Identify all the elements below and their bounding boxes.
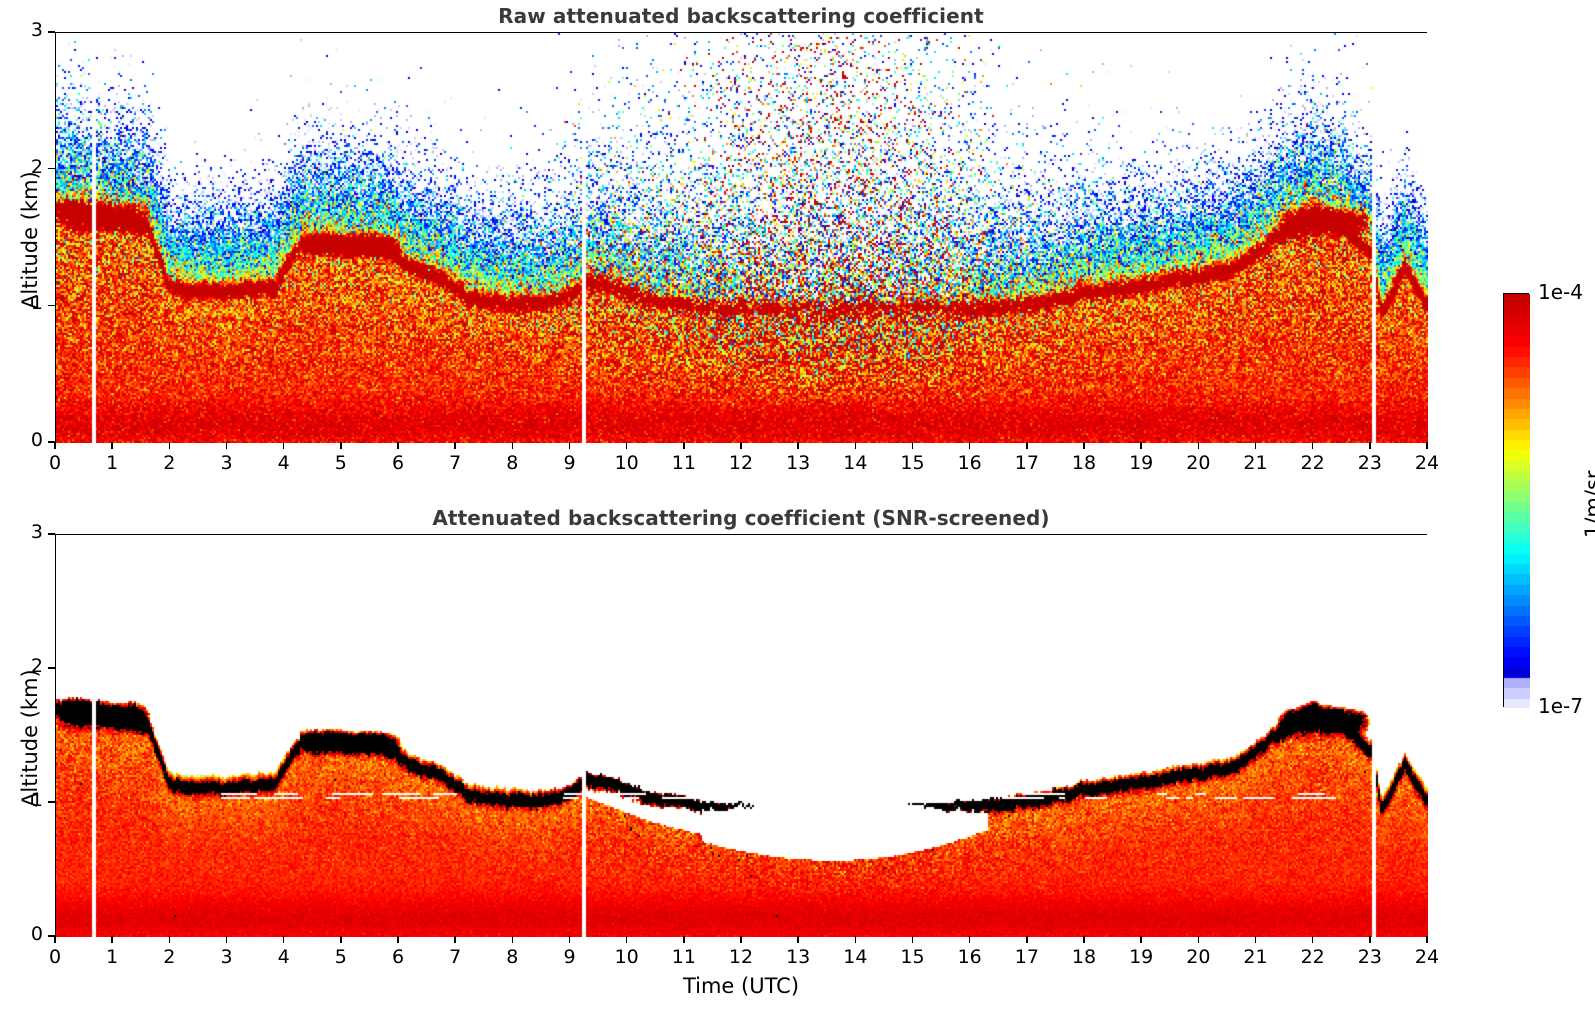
x-tick-mark [740,442,742,449]
x-tick-label: 8 [490,946,534,968]
colorbar-label: 1/m/sr [1581,470,1595,538]
x-tick-mark [1026,936,1028,943]
x-tick-mark [111,936,113,943]
x-tick-mark [54,442,56,449]
x-tick-mark [855,936,857,943]
x-tick-mark [569,936,571,943]
x-tick-label: 15 [891,452,935,474]
x-tick-mark [1426,936,1428,943]
x-tick-mark [626,936,628,943]
x-tick-label: 18 [1062,946,1106,968]
x-tick-label: 16 [948,946,992,968]
lidar-quicklook-figure: Raw attenuated backscattering coefficien… [0,0,1595,1020]
x-tick-mark [626,442,628,449]
y-tick-label: 1 [13,292,43,314]
x-tick-mark [283,442,285,449]
x-tick-mark [797,936,799,943]
y-tick-mark [48,935,55,937]
x-tick-label: 21 [1234,452,1278,474]
x-tick-mark [397,936,399,943]
x-tick-label: 2 [147,452,191,474]
x-tick-mark [1312,442,1314,449]
x-tick-mark [169,936,171,943]
x-tick-label: 0 [33,946,77,968]
x-tick-label: 19 [1119,946,1163,968]
y-tick-mark [48,801,55,803]
x-tick-label: 3 [205,452,249,474]
x-tick-mark [226,936,228,943]
x-tick-label: 4 [262,452,306,474]
y-tick-label: 3 [13,19,43,41]
x-tick-mark [969,442,971,449]
x-tick-mark [454,936,456,943]
x-tick-mark [855,442,857,449]
y-tick-label: 3 [13,521,43,543]
x-tick-mark [797,442,799,449]
x-tick-label: 11 [662,452,706,474]
y-tick-mark [48,168,55,170]
x-tick-mark [283,936,285,943]
x-tick-mark [397,442,399,449]
x-tick-label: 6 [376,946,420,968]
y-tick-label: 1 [13,789,43,811]
x-tick-mark [111,442,113,449]
x-tick-mark [226,442,228,449]
x-tick-label: 0 [33,452,77,474]
x-tick-mark [1198,936,1200,943]
x-tick-label: 23 [1348,946,1392,968]
x-tick-label: 9 [548,452,592,474]
x-tick-label: 22 [1291,946,1335,968]
y-tick-label: 2 [13,655,43,677]
x-tick-label: 13 [776,452,820,474]
x-tick-label: 22 [1291,452,1335,474]
x-tick-mark [1426,442,1428,449]
x-tick-label: 12 [719,452,763,474]
x-tick-mark [1083,442,1085,449]
y-tick-mark [48,305,55,307]
y-tick-label: 2 [13,156,43,178]
x-tick-label: 20 [1176,946,1220,968]
colorbar [1503,293,1529,707]
x-tick-label: 1 [90,452,134,474]
x-tick-label: 16 [948,452,992,474]
x-axis-label-time: Time (UTC) [55,974,1427,998]
x-tick-label: 24 [1405,946,1449,968]
x-tick-mark [1369,936,1371,943]
plot-area-raw [55,32,1427,442]
colorbar-tick-max: 1e-4 [1538,280,1583,304]
x-tick-label: 10 [605,946,649,968]
y-tick-label: 0 [13,429,43,451]
x-tick-mark [54,936,56,943]
x-tick-label: 21 [1234,946,1278,968]
plot-area-screened [55,534,1427,936]
x-tick-mark [1198,442,1200,449]
x-tick-label: 10 [605,452,649,474]
x-tick-label: 19 [1119,452,1163,474]
x-tick-label: 23 [1348,452,1392,474]
x-tick-label: 24 [1405,452,1449,474]
x-tick-mark [1369,442,1371,449]
x-tick-mark [454,442,456,449]
x-tick-label: 12 [719,946,763,968]
y-axis-label-raw: Altitude (km) [18,171,42,309]
x-tick-label: 3 [205,946,249,968]
x-tick-label: 20 [1176,452,1220,474]
x-tick-label: 18 [1062,452,1106,474]
x-tick-label: 6 [376,452,420,474]
x-tick-label: 17 [1005,452,1049,474]
y-tick-mark [48,667,55,669]
x-tick-label: 8 [490,452,534,474]
colorbar-tick-min: 1e-7 [1538,694,1583,718]
x-tick-mark [683,936,685,943]
x-tick-mark [740,936,742,943]
x-tick-mark [1312,936,1314,943]
x-tick-label: 14 [833,452,877,474]
x-tick-label: 5 [319,452,363,474]
x-tick-label: 7 [433,452,477,474]
y-axis-label-screened: Altitude (km) [18,669,42,807]
x-tick-label: 7 [433,946,477,968]
panel-title-screened: Attenuated backscattering coefficient (S… [55,506,1427,530]
x-tick-mark [1026,442,1028,449]
y-tick-label: 0 [13,923,43,945]
x-tick-label: 5 [319,946,363,968]
y-tick-mark [48,31,55,33]
x-tick-label: 9 [548,946,592,968]
x-tick-mark [912,442,914,449]
x-tick-mark [1083,936,1085,943]
x-tick-mark [512,936,514,943]
y-tick-mark [48,533,55,535]
x-tick-label: 2 [147,946,191,968]
x-tick-mark [512,442,514,449]
x-tick-label: 1 [90,946,134,968]
x-tick-mark [169,442,171,449]
x-tick-mark [1140,936,1142,943]
x-tick-mark [969,936,971,943]
x-tick-mark [340,442,342,449]
x-tick-label: 13 [776,946,820,968]
x-tick-label: 4 [262,946,306,968]
x-tick-mark [1255,442,1257,449]
panel-title-raw: Raw attenuated backscattering coefficien… [55,4,1427,28]
x-tick-label: 15 [891,946,935,968]
x-tick-label: 14 [833,946,877,968]
x-tick-mark [340,936,342,943]
x-tick-mark [569,442,571,449]
x-tick-mark [683,442,685,449]
x-tick-label: 11 [662,946,706,968]
x-tick-mark [1255,936,1257,943]
x-tick-mark [912,936,914,943]
y-tick-mark [48,441,55,443]
x-tick-mark [1140,442,1142,449]
x-tick-label: 17 [1005,946,1049,968]
